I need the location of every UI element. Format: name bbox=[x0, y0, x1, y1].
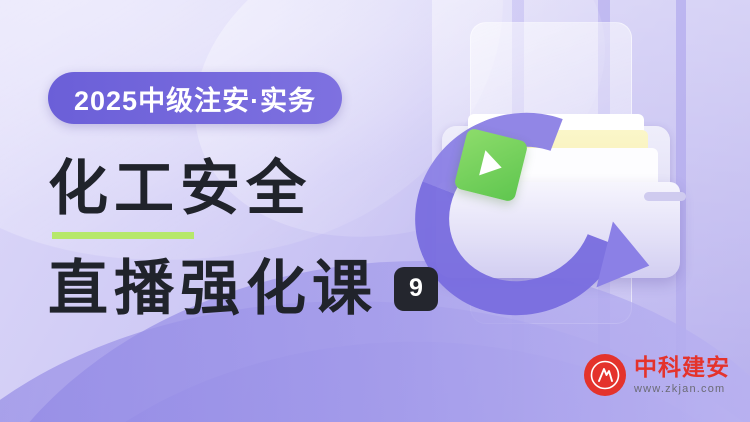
headline-line-2: 直播强化课 bbox=[48, 258, 378, 319]
episode-badge: 9 bbox=[394, 267, 438, 311]
brand-logo: 中科建安 www.zkjan.com bbox=[584, 354, 730, 396]
course-promo-banner: 2025中级注安·实务 化工安全 直播强化课 9 中科建安 www.zkjan.… bbox=[0, 0, 750, 422]
course-badge: 2025中级注安·实务 bbox=[48, 72, 342, 124]
circular-monogram-icon bbox=[584, 354, 626, 396]
folder-tab bbox=[644, 192, 686, 201]
brand-name: 中科建安 bbox=[634, 355, 730, 380]
headline-line-2-row: 直播强化课 9 bbox=[48, 258, 438, 319]
headline-line-1: 化工安全 bbox=[48, 158, 312, 219]
brand-logo-text: 中科建安 www.zkjan.com bbox=[634, 355, 730, 395]
brand-url: www.zkjan.com bbox=[634, 383, 725, 395]
course-badge-label: 2025中级注安·实务 bbox=[74, 79, 316, 118]
headline-underline bbox=[52, 232, 194, 239]
folder-illustration bbox=[408, 108, 708, 333]
